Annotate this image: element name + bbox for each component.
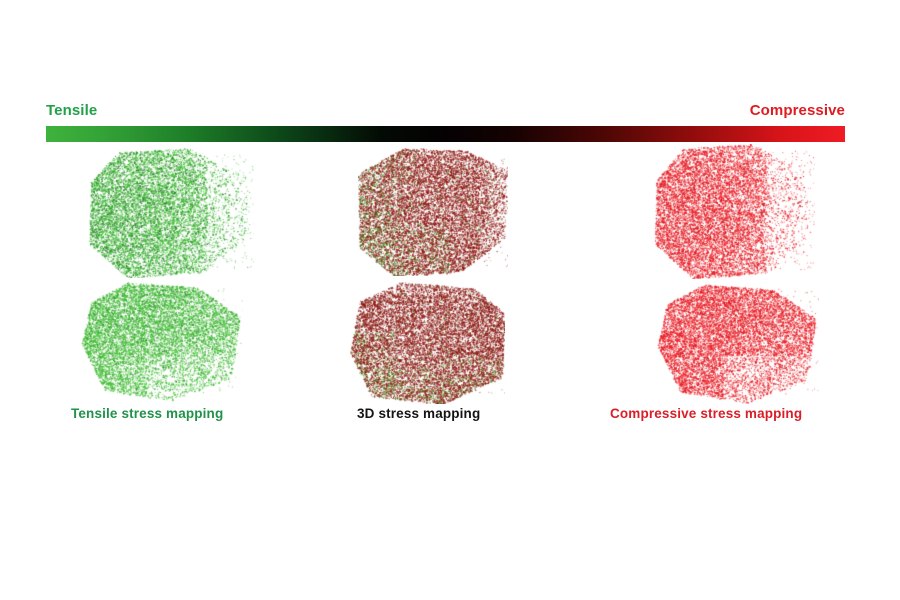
point-cloud-canvas <box>654 282 819 404</box>
point-cloud-tensile-bottom <box>78 280 243 402</box>
point-cloud-canvas <box>650 144 815 279</box>
point-cloud-compressive-bottom <box>654 282 819 404</box>
point-cloud-canvas <box>358 148 508 276</box>
caption-tensile: Tensile stress mapping <box>71 406 223 421</box>
point-cloud-canvas <box>350 282 505 404</box>
point-cloud-compressive-top <box>650 144 815 279</box>
caption-3d: 3D stress mapping <box>357 406 480 421</box>
stress-mapping-figure: Tensile Compressive Tensile stress mappi… <box>0 0 900 600</box>
point-cloud-tensile-top <box>84 148 254 278</box>
caption-compressive: Compressive stress mapping <box>610 406 802 421</box>
point-cloud-3d-bottom <box>350 282 505 404</box>
stress-colorbar-group: Tensile Compressive <box>46 102 845 144</box>
colorbar-label-compressive: Compressive <box>750 102 845 119</box>
point-cloud-canvas <box>78 280 243 402</box>
stress-colorbar-gradient <box>46 126 845 142</box>
point-cloud-canvas <box>84 148 254 278</box>
colorbar-label-tensile: Tensile <box>46 102 97 119</box>
point-cloud-3d-top <box>358 148 508 276</box>
